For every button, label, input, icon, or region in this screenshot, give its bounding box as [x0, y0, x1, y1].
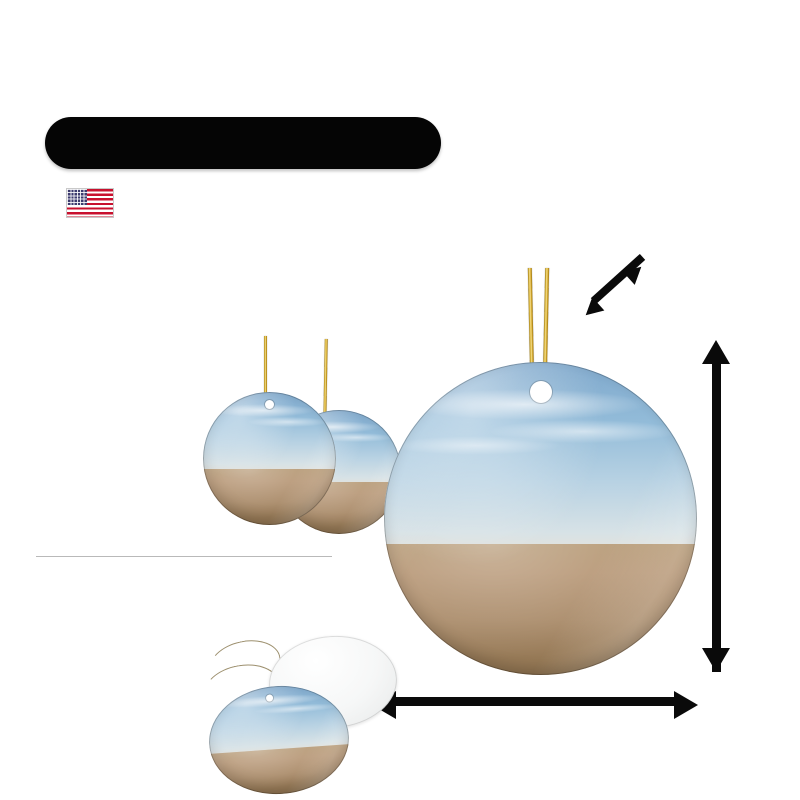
us-flag-canton-icon	[67, 189, 87, 205]
ornament-artwork	[203, 392, 336, 525]
cloud-icon	[403, 389, 647, 420]
sand-layer	[203, 469, 336, 525]
cloud-icon	[248, 417, 328, 427]
thickness-arrow-head-upper	[623, 260, 648, 285]
infographic-canvas	[0, 0, 800, 800]
sand-layer	[210, 744, 353, 799]
sand-layer	[384, 544, 697, 675]
ornament-artwork	[384, 362, 697, 675]
width-arrow-shaft	[394, 697, 682, 706]
ornament-main-preview	[384, 362, 697, 675]
height-arrow-head-bottom	[702, 648, 730, 672]
height-arrow-shaft	[712, 360, 721, 672]
feature-text-usa-row	[54, 188, 758, 218]
thickness-arrow-head-lower	[580, 297, 605, 322]
hanging-hole	[530, 381, 552, 403]
us-flag-icon	[66, 188, 114, 218]
cloud-icon	[211, 404, 315, 417]
width-arrow-head-right	[674, 691, 698, 719]
ornament-single-sided-front	[205, 681, 352, 799]
ornament-double-sided-front	[203, 392, 336, 525]
hanging-hole	[265, 400, 274, 409]
ornament-artwork	[205, 681, 352, 799]
page-title-pill	[45, 117, 441, 169]
section-divider	[36, 556, 332, 557]
height-arrow-head-top	[702, 340, 730, 364]
cloud-icon	[390, 436, 562, 455]
features-list	[38, 186, 758, 224]
